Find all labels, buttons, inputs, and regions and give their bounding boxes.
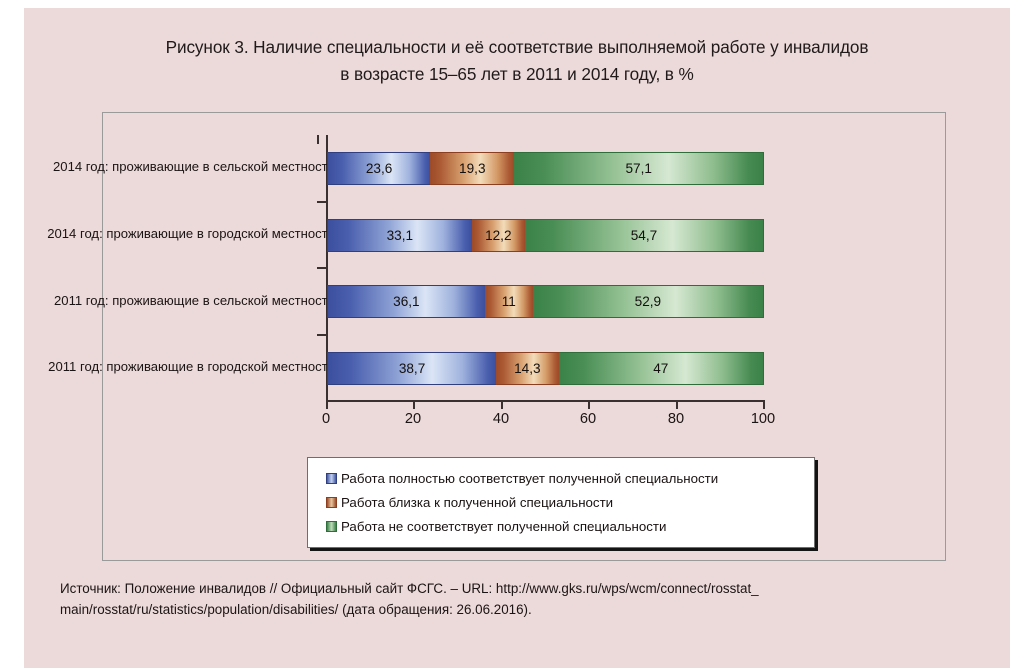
legend-item[interactable]: Работа не соответствует полученной специ… — [308, 514, 814, 538]
category-label: 2011 год: проживающие в городской местно… — [5, 359, 335, 374]
category-label: 2011 год: проживающие в сельской местнос… — [5, 293, 335, 308]
legend-item-label: Работа близка к полученной специальности — [341, 495, 613, 510]
title-line-1: Рисунок 3. Наличие специальности и её со… — [24, 34, 1010, 61]
bar-segment: 33,1 — [327, 219, 472, 252]
value-tick — [413, 400, 415, 409]
table-row: 23,6 19,3 57,1 — [327, 152, 764, 185]
value-tick-label: 60 — [558, 411, 618, 427]
bar-segment: 19,3 — [430, 152, 514, 185]
bar-segment: 36,1 — [327, 285, 485, 318]
chart-frame: 0 20 40 60 80 100 2014 год: проживающие … — [102, 112, 946, 561]
axis-top-cap — [317, 135, 319, 144]
bar-segment: 54,7 — [525, 219, 764, 252]
bar-segment: 12,2 — [472, 219, 525, 252]
bar-value-label: 54,7 — [631, 228, 657, 243]
bar-segment: 38,7 — [327, 352, 496, 385]
value-tick — [676, 400, 678, 409]
legend-swatch-icon — [326, 521, 337, 532]
value-tick-label: 100 — [733, 411, 793, 427]
category-tick — [317, 267, 326, 269]
table-row: 33,1 12,2 54,7 — [327, 219, 764, 252]
value-tick — [588, 400, 590, 409]
table-row: 36,1 11 52,9 — [327, 285, 764, 318]
table-row: 38,7 14,3 47 — [327, 352, 764, 385]
value-tick — [763, 400, 765, 409]
category-tick — [317, 334, 326, 336]
legend-item-label: Работа полностью соответствует полученно… — [341, 471, 718, 486]
bar-value-label: 33,1 — [387, 228, 413, 243]
value-tick-label: 80 — [646, 411, 706, 427]
category-tick — [317, 201, 326, 203]
bar-value-label: 14,3 — [514, 361, 540, 376]
bar-value-label: 47 — [653, 361, 668, 376]
bar-value-label: 23,6 — [366, 161, 392, 176]
figure-page: Рисунок 3. Наличие специальности и её со… — [24, 8, 1010, 668]
value-tick-label: 40 — [471, 411, 531, 427]
bar-value-label: 12,2 — [485, 228, 511, 243]
bar-value-label: 11 — [502, 294, 516, 309]
category-label: 2014 год: проживающие в сельской местнос… — [5, 159, 335, 174]
source-line-2: main/rosstat/ru/statistics/population/di… — [60, 599, 982, 620]
bar-value-label: 19,3 — [459, 161, 485, 176]
bar-segment: 47 — [559, 352, 764, 385]
legend-item[interactable]: Работа полностью соответствует полученно… — [308, 466, 814, 490]
bar-segment: 57,1 — [514, 152, 764, 185]
legend-swatch-icon — [326, 497, 337, 508]
legend-item[interactable]: Работа близка к полученной специальности — [308, 490, 814, 514]
chart-legend: Работа полностью соответствует полученно… — [307, 457, 815, 548]
category-axis-line — [326, 400, 764, 402]
value-tick — [326, 400, 328, 409]
legend-swatch-icon — [326, 473, 337, 484]
source-line-1: Источник: Положение инвалидов // Официал… — [60, 578, 982, 599]
page-title: Рисунок 3. Наличие специальности и её со… — [24, 34, 1010, 88]
bar-value-label: 52,9 — [635, 294, 661, 309]
bar-segment: 11 — [485, 285, 533, 318]
title-line-2: в возрасте 15–65 лет в 2011 и 2014 году,… — [24, 61, 1010, 88]
source-note: Источник: Положение инвалидов // Официал… — [60, 578, 982, 620]
bar-value-label: 57,1 — [625, 161, 651, 176]
value-tick-label: 20 — [383, 411, 443, 427]
value-tick — [501, 400, 503, 409]
bar-segment: 52,9 — [533, 285, 764, 318]
bar-value-label: 38,7 — [399, 361, 425, 376]
category-label: 2014 год: проживающие в городской местно… — [5, 226, 335, 241]
bar-segment: 14,3 — [496, 352, 558, 385]
value-tick-label: 0 — [296, 411, 356, 427]
bar-value-label: 36,1 — [393, 294, 419, 309]
legend-item-label: Работа не соответствует полученной специ… — [341, 519, 666, 534]
plot-area: 0 20 40 60 80 100 2014 год: проживающие … — [103, 113, 947, 562]
bar-segment: 23,6 — [327, 152, 430, 185]
